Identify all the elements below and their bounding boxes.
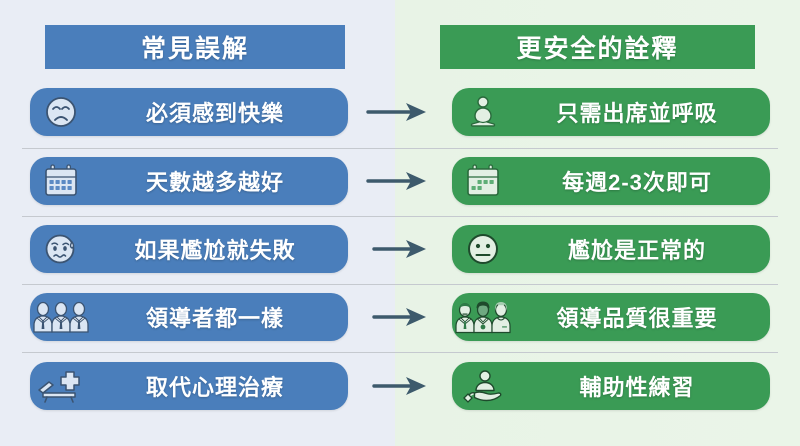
myth-row-3-label: 如果尷尬就失敗 [92, 233, 348, 265]
reframe-row-3[interactable]: 尷尬是正常的 [452, 225, 770, 273]
therapy-couch-icon [30, 362, 92, 410]
myth-row-3[interactable]: 如果尷尬就失敗 [30, 225, 348, 273]
row-divider [22, 216, 778, 217]
myth-row-5-label: 取代心理治療 [92, 370, 348, 402]
myth-row-2-label: 天數越多越好 [92, 165, 348, 197]
reframe-row-1[interactable]: 只需出席並呼吸 [452, 88, 770, 136]
reframe-row-2[interactable]: 每週2-3次即可 [452, 157, 770, 205]
left-column-header-label: 常見誤解 [141, 29, 249, 65]
right-arrow-icon [366, 168, 430, 194]
calendar-light-icon [452, 157, 514, 205]
calendar-icon [30, 157, 92, 205]
right-column-header: 更安全的詮釋 [440, 25, 755, 69]
three-diverse-people-icon [452, 293, 514, 341]
reframe-row-3-label: 尷尬是正常的 [514, 233, 770, 265]
row-divider [22, 352, 778, 353]
myth-row-1[interactable]: 必須感到快樂 [30, 88, 348, 136]
right-column-header-label: 更安全的詮釋 [516, 29, 678, 65]
row-divider [22, 284, 778, 285]
myth-row-5[interactable]: 取代心理治療 [30, 362, 348, 410]
three-identical-people-icon [30, 293, 92, 341]
meditation-icon [452, 88, 514, 136]
reframe-row-4[interactable]: 領導品質很重要 [452, 293, 770, 341]
right-arrow-icon [366, 304, 430, 330]
reframe-row-4-label: 領導品質很重要 [514, 301, 770, 333]
sad-face-icon [30, 88, 92, 136]
myth-row-4[interactable]: 領導者都一樣 [30, 293, 348, 341]
myth-row-2[interactable]: 天數越多越好 [30, 157, 348, 205]
right-arrow-icon [366, 99, 430, 125]
comparison-infographic: 常見誤解 更安全的詮釋 必須感到快樂 [0, 0, 800, 446]
row-divider [22, 148, 778, 149]
neutral-face-icon [452, 225, 514, 273]
worried-sweat-face-icon [30, 225, 92, 273]
myth-row-1-label: 必須感到快樂 [92, 96, 348, 128]
myth-row-4-label: 領導者都一樣 [92, 301, 348, 333]
reframe-row-2-label: 每週2-3次即可 [514, 165, 770, 197]
reframe-row-1-label: 只需出席並呼吸 [514, 96, 770, 128]
left-column-header: 常見誤解 [45, 25, 345, 69]
reframe-row-5[interactable]: 輔助性練習 [452, 362, 770, 410]
reframe-row-5-label: 輔助性練習 [514, 370, 770, 402]
right-arrow-icon [366, 236, 430, 262]
hand-holding-person-icon [452, 362, 514, 410]
right-arrow-icon [366, 373, 430, 399]
